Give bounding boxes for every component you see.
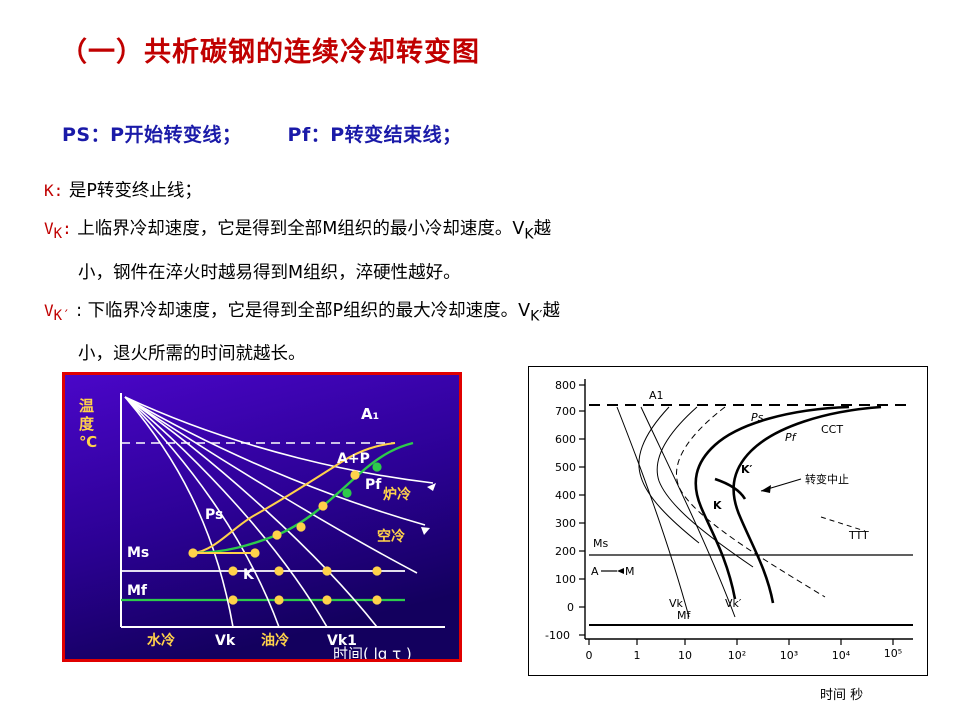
right-label-k: K — [713, 499, 722, 512]
label-pf: Pf — [365, 477, 382, 493]
vk-text: 上临界冷却速度，它是得到全部M组织的最小冷却速度。V — [77, 219, 524, 239]
right-label-ps: Ps — [751, 411, 764, 424]
body-line-5-text: 小，退火所需的时间就越长。 — [78, 344, 306, 364]
left-diagram: 温 度 ℃ A₁ A+P Pf Ps K Ms Mf 炉冷 空冷 水冷 Vk 油… — [62, 372, 462, 662]
ytick-0: 0 — [567, 601, 574, 614]
node-ms-1 — [228, 566, 237, 575]
vkprime-colon: : — [76, 301, 82, 321]
node-pf-1 — [272, 530, 281, 539]
ytick-neg100: -100 — [545, 629, 570, 642]
node-mf-4 — [372, 595, 381, 604]
label-ps: Ps — [205, 507, 223, 523]
right-label-vk: Vk — [669, 597, 684, 610]
label-ap: A+P — [337, 451, 370, 467]
ytick-700: 700 — [555, 405, 576, 418]
ytick-600: 600 — [555, 433, 576, 446]
left-axis-y-label-char3: ℃ — [79, 433, 97, 451]
node-ps-4 — [350, 470, 359, 479]
ytick-400: 400 — [555, 489, 576, 502]
node-mf-3 — [322, 595, 331, 604]
node-pf-3 — [372, 462, 381, 471]
body-line-3: 小，钢件在淬火时越易得到M组织，淬硬性越好。 — [44, 254, 924, 292]
right-label-ttt: TTT — [848, 529, 869, 542]
label-mf: Mf — [127, 583, 148, 599]
xtick-1e5: 10⁵ — [884, 647, 902, 660]
vk-inline-sub: K — [524, 227, 533, 243]
body-line-2: VK: 上临界冷却速度，它是得到全部M组织的最小冷却速度。VK越 — [44, 210, 924, 254]
subtitle-pf: Pf：P转变结束线； — [288, 124, 462, 146]
label-air-cool: 空冷 — [377, 528, 405, 545]
xtick-10: 10 — [678, 649, 692, 662]
right-label-a1: A1 — [649, 389, 664, 402]
label-furnace-cool: 炉冷 — [383, 486, 411, 503]
label-a1: A₁ — [361, 405, 379, 423]
label-vk: Vk — [215, 633, 236, 649]
node-mf-1 — [228, 595, 237, 604]
vkprime-inline-sub: K′ — [530, 308, 542, 324]
xtick-0: 0 — [586, 649, 593, 662]
node-ms-3 — [322, 566, 331, 575]
right-label-stop: 转变中止 — [805, 472, 849, 486]
page-title: （一）共析碳钢的连续冷却转变图 — [60, 30, 480, 69]
vkprime-text-tail: 越 — [542, 301, 560, 321]
left-axis-y-label-char2: 度 — [79, 415, 95, 433]
right-label-a: A — [591, 565, 599, 578]
node-mf-2 — [274, 595, 283, 604]
ytick-500: 500 — [555, 461, 576, 474]
right-label-mf: Mf — [677, 609, 691, 622]
xtick-1: 1 — [634, 649, 641, 662]
node-ps-3 — [318, 501, 327, 510]
vk-label: VK: — [44, 219, 72, 238]
subtitle-ps: PS：P开始转变线； — [62, 124, 242, 146]
body-text: K: 是P转变终止线； VK: 上临界冷却速度，它是得到全部M组织的最小冷却速度… — [44, 172, 924, 373]
right-label-cct: CCT — [821, 423, 843, 436]
node-pf-2 — [342, 488, 351, 497]
node-ms-2 — [274, 566, 283, 575]
subtitle-line: PS：P开始转变线；Pf：P转变结束线； — [62, 120, 462, 147]
right-diagram-svg: 800 700 600 500 400 300 200 100 0 -100 — [529, 367, 927, 675]
node-k — [250, 548, 259, 557]
body-line-3-text: 小，钢件在淬火时越易得到M组织，淬硬性越好。 — [78, 263, 461, 283]
body-line-4: VK′ : 下临界冷却速度，它是得到全部P组织的最大冷却速度。VK′越 — [44, 292, 924, 336]
right-label-m: M — [625, 565, 635, 578]
right-diagram-bg — [529, 367, 927, 675]
right-label-ms: Ms — [593, 537, 608, 550]
right-diagram: 800 700 600 500 400 300 200 100 0 -100 — [528, 366, 928, 676]
label-water-cool: 水冷 — [147, 632, 175, 649]
vk-text-tail: 越 — [534, 219, 552, 239]
xtick-1e3: 10³ — [780, 649, 798, 662]
node-ps-1 — [188, 548, 197, 557]
xtick-1e2: 10² — [728, 649, 746, 662]
label-k: K — [243, 567, 255, 583]
ytick-800: 800 — [555, 379, 576, 392]
vkprime-text: 下临界冷却速度，它是得到全部P组织的最大冷却速度。V — [88, 301, 531, 321]
vkprime-label: VK′ — [44, 301, 71, 320]
ytick-200: 200 — [555, 545, 576, 558]
left-axis-x-label: 时间( lg τ ) — [333, 645, 412, 659]
k-text: 是P转变终止线； — [69, 181, 202, 201]
xtick-1e4: 10⁴ — [832, 649, 851, 662]
body-line-1: K: 是P转变终止线； — [44, 172, 924, 210]
node-ps-2 — [296, 522, 305, 531]
ytick-300: 300 — [555, 517, 576, 530]
k-label: K: — [44, 181, 63, 200]
right-diagram-caption: 时间 秒 — [820, 684, 863, 703]
label-ms: Ms — [127, 545, 149, 561]
node-ms-4 — [372, 566, 381, 575]
right-label-vkprime: Vk′ — [725, 597, 742, 610]
label-oil-cool: 油冷 — [261, 632, 289, 649]
left-diagram-svg: 温 度 ℃ A₁ A+P Pf Ps K Ms Mf 炉冷 空冷 水冷 Vk 油… — [65, 375, 459, 659]
right-label-kprime: K′ — [741, 463, 753, 476]
left-axis-y-label-char1: 温 — [79, 397, 94, 415]
ytick-100: 100 — [555, 573, 576, 586]
